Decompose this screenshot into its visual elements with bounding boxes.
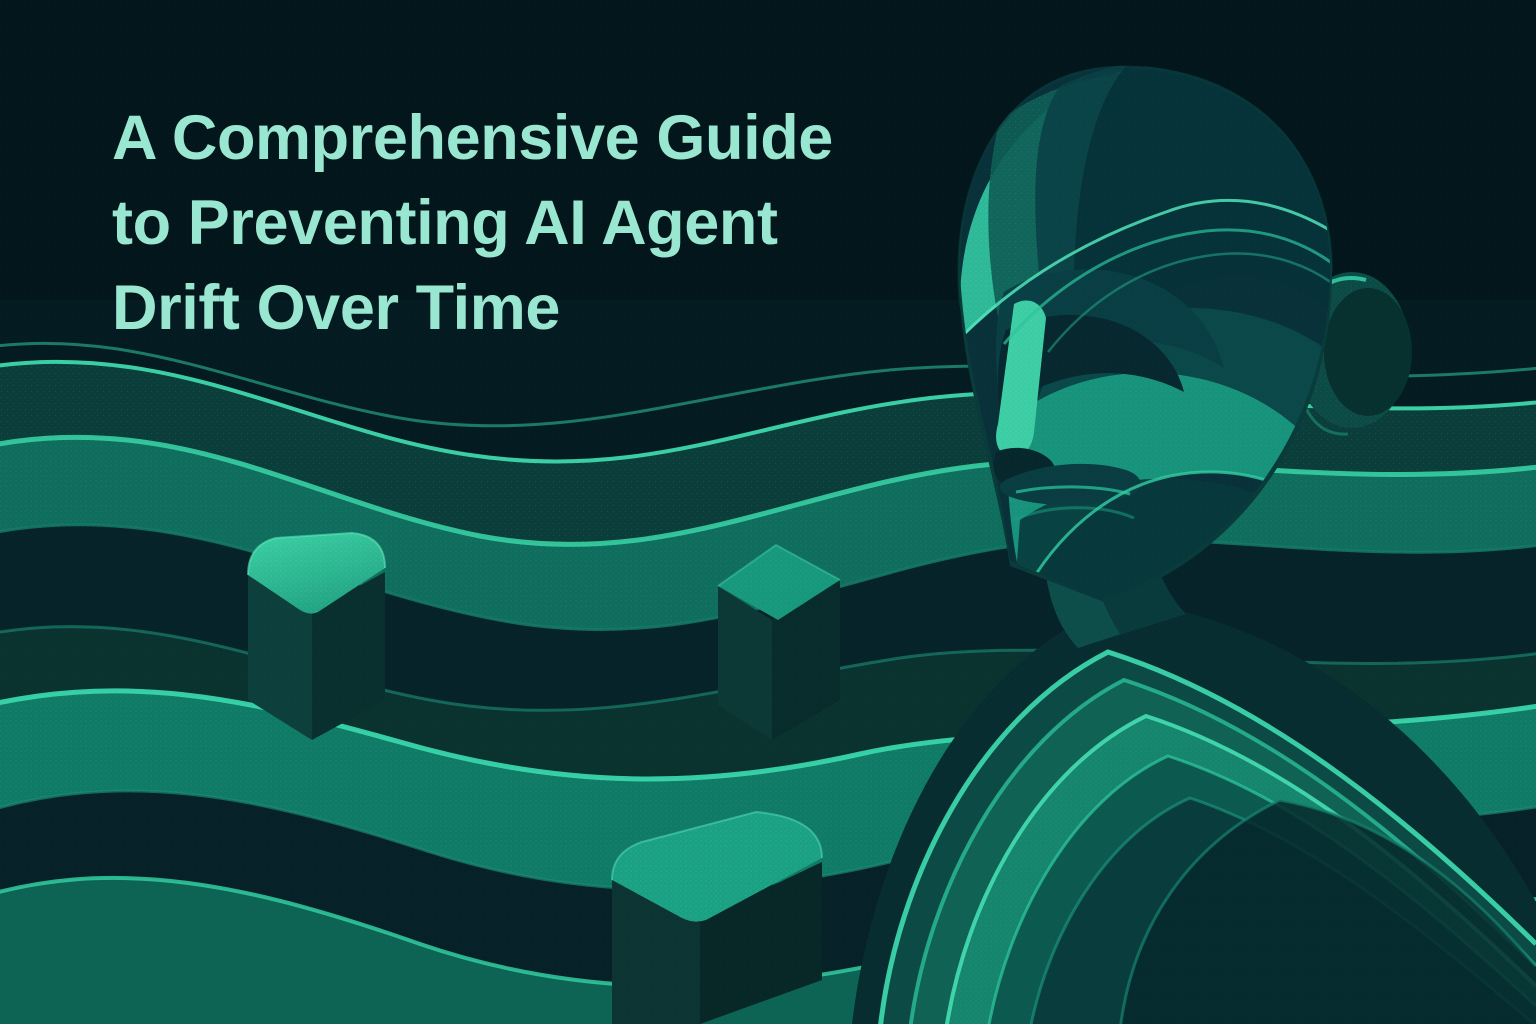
hero-banner: A Comprehensive Guide to Preventing AI A… <box>0 0 1536 1024</box>
hero-illustration <box>0 0 1536 1024</box>
